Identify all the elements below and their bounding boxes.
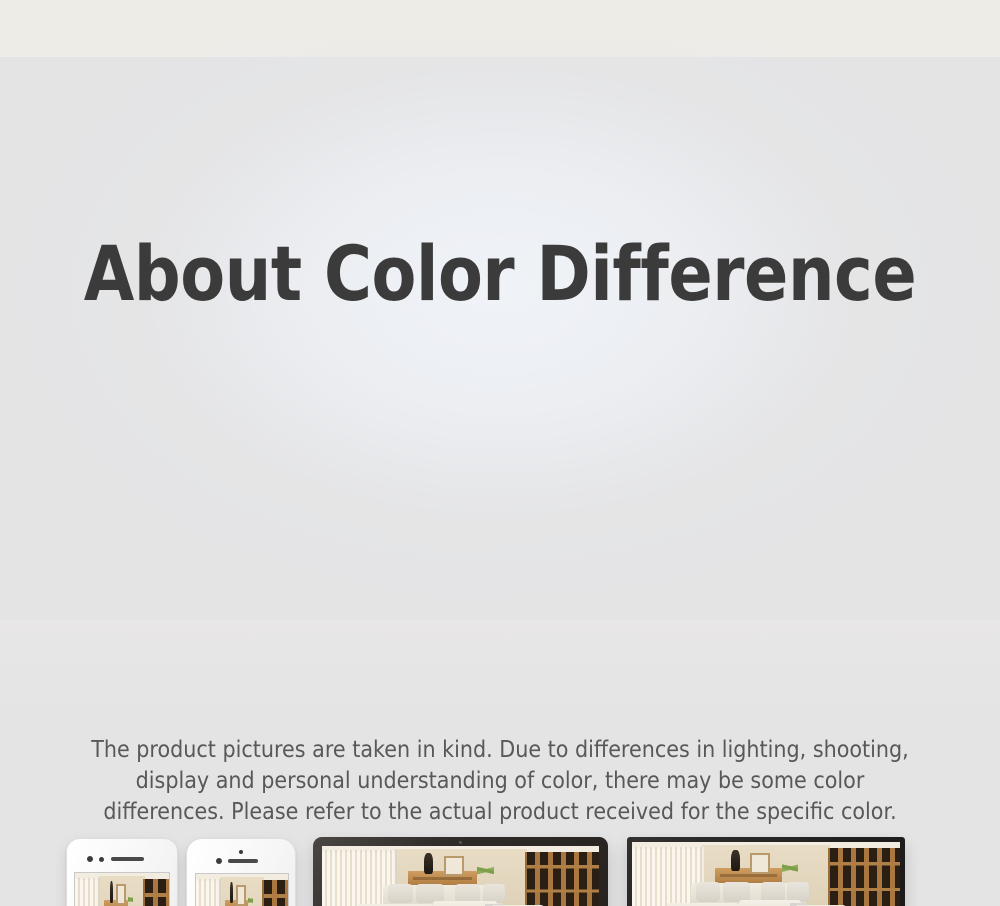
earpiece-speaker-icon [228, 859, 258, 863]
color-difference-page: About Color Difference [0, 0, 1000, 906]
monitor-screen [322, 846, 599, 906]
living-room-photo [632, 842, 900, 906]
front-camera-icon [216, 858, 222, 864]
earpiece-speaker-icon [111, 857, 144, 861]
phone-screen [74, 872, 170, 906]
disclaimer-caption: The product pictures are taken in kind. … [0, 735, 1000, 828]
apple-thunderbolt-display [313, 837, 608, 906]
black-pc-monitor [627, 837, 905, 906]
caption-line-2: display and personal understanding of co… [50, 766, 950, 797]
proximity-sensor-icon [239, 850, 243, 854]
background-top-band [0, 0, 1000, 57]
proximity-sensor-icon [99, 857, 104, 862]
caption-line-3: differences. Please refer to the actual … [50, 797, 950, 828]
living-room-photo [322, 846, 599, 906]
front-camera-icon [87, 856, 93, 862]
living-room-photo [75, 873, 169, 906]
white-iphone [186, 838, 296, 906]
phone-screen [195, 873, 289, 906]
page-title: About Color Difference [70, 229, 930, 318]
living-room-photo [196, 874, 288, 906]
monitor-screen [632, 842, 900, 906]
device-showcase [0, 415, 1000, 680]
webcam-icon [459, 841, 462, 844]
white-android-phone [66, 838, 178, 906]
caption-line-1: The product pictures are taken in kind. … [50, 735, 950, 766]
